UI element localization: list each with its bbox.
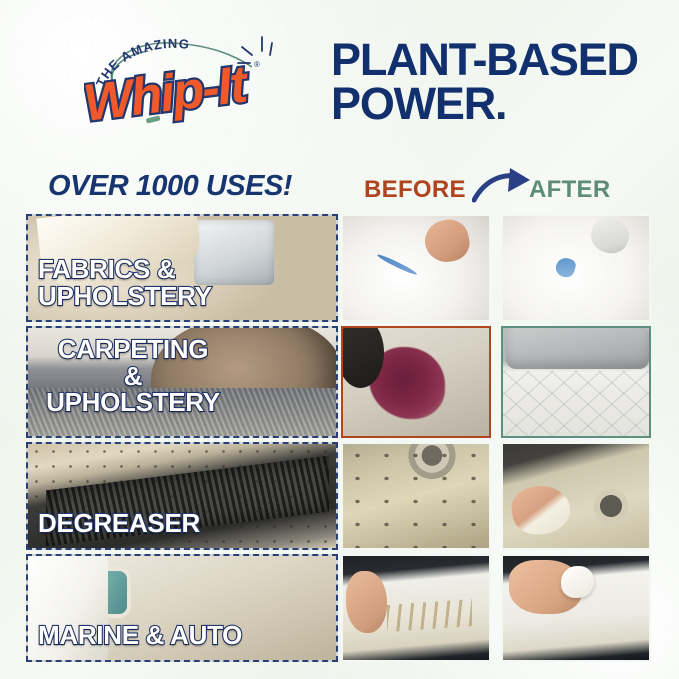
whip-it-logo-icon: THE AMAZING Whip-It ® — [84, 33, 274, 129]
greasy-stove-before-photo — [343, 444, 489, 548]
curved-arrow-right-icon — [472, 166, 536, 206]
comparison-before-degreaser[interactable] — [341, 442, 491, 550]
comparison-after-fabrics[interactable] — [501, 214, 651, 322]
category-caption-marine: MARINE & AUTO — [38, 622, 242, 649]
boat-panel-after-photo — [503, 556, 649, 660]
caption-line: & — [38, 363, 228, 390]
category-panel-fabrics[interactable]: FABRICS & UPHOLSTERY — [26, 214, 338, 322]
headline-line-2: POWER. — [331, 82, 661, 126]
svg-text:®: ® — [254, 60, 260, 69]
before-after-header: BEFORE AFTER — [364, 174, 644, 206]
before-label: BEFORE — [364, 176, 466, 204]
category-caption-carpeting: CARPETING & UPHOLSTERY — [38, 336, 228, 416]
over-1000-uses-label: OVER 1000 USES! — [48, 170, 292, 203]
comparison-before-carpeting[interactable] — [341, 326, 491, 438]
comparison-after-degreaser[interactable] — [501, 442, 651, 550]
shirt-stain-after-photo — [503, 216, 649, 320]
category-panel-marine[interactable]: MARINE & AUTO — [26, 554, 338, 662]
shirt-stain-before-photo — [343, 216, 489, 320]
clean-carpet-after-photo — [503, 328, 649, 436]
caption-line: UPHOLSTERY — [38, 389, 228, 416]
brand-logo: THE AMAZING Whip-It ® — [84, 33, 274, 129]
caption-line: FABRICS & — [38, 256, 212, 283]
category-caption-fabrics: FABRICS & UPHOLSTERY — [38, 256, 212, 309]
caption-line: CARPETING — [38, 336, 228, 363]
infographic-page: THE AMAZING Whip-It ® PLANT-BASED POWER.… — [0, 0, 679, 679]
comparison-before-fabrics[interactable] — [341, 214, 491, 322]
page-title: PLANT-BASED POWER. — [331, 38, 661, 126]
caption-line: UPHOLSTERY — [38, 283, 212, 310]
wine-stain-before-photo — [343, 328, 489, 436]
category-panel-degreaser[interactable]: DEGREASER — [26, 442, 338, 550]
after-label: AFTER — [529, 176, 611, 204]
clean-stove-after-photo — [503, 444, 649, 548]
category-panel-carpeting[interactable]: CARPETING & UPHOLSTERY — [26, 326, 338, 438]
caption-line: MARINE & AUTO — [38, 622, 242, 649]
boat-panel-before-photo — [343, 556, 489, 660]
category-caption-degreaser: DEGREASER — [38, 510, 200, 537]
comparison-after-carpeting[interactable] — [501, 326, 651, 438]
caption-line: DEGREASER — [38, 510, 200, 537]
comparison-before-marine[interactable] — [341, 554, 491, 662]
comparison-after-marine[interactable] — [501, 554, 651, 662]
